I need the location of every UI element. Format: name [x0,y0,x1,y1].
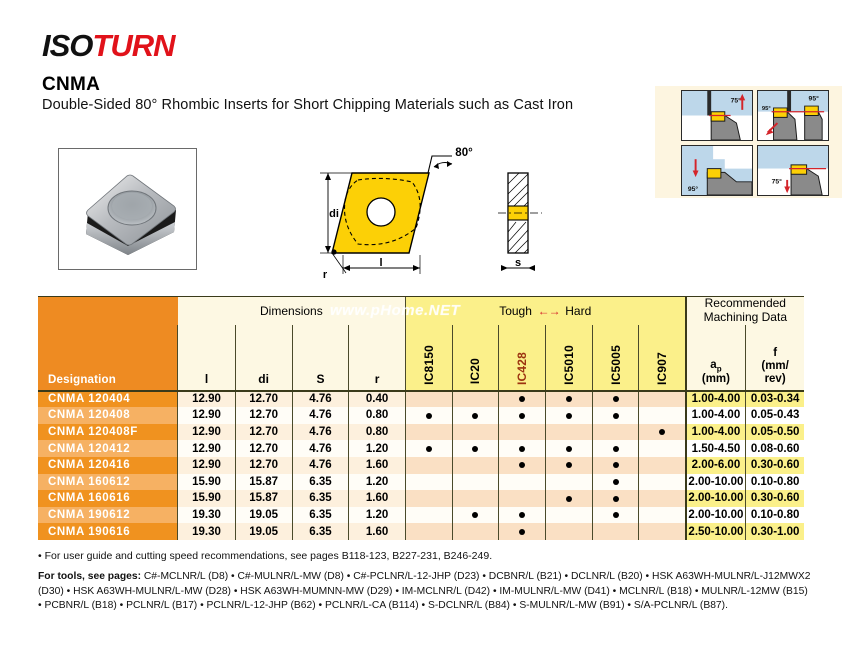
logo-iso-text: ISO [42,28,92,63]
cell-grade-ic5005 [592,490,639,507]
cell-grade-ic907 [639,440,686,457]
header-group-recommended: Recommended Machining Data [686,297,804,325]
header-col-l: l [178,325,235,391]
grade-available-dot-icon [566,413,572,419]
footer-tools-note: For tools, see pages: C#-MCLNR/L (D8) • … [38,570,814,614]
cell-grade-ic907 [639,391,686,408]
tool-holder-diagram-4: 75° [757,145,829,196]
isoturn-logo: ISOTURN [42,28,175,64]
cell-grade-ic907 [639,424,686,441]
table-row: CNMA 120408F12.9012.704.760.801.00-4.000… [38,424,804,441]
cell-dim-r: 1.60 [349,457,406,474]
grade-available-dot-icon [472,413,478,419]
table-group-header-row: Designation Dimensions Tough ←→ Hard Rec… [38,297,804,325]
cell-dim-di: 12.70 [235,457,292,474]
cell-grade-ic20 [452,474,499,491]
cell-grade-ic20 [452,507,499,524]
cell-grade-ic907 [639,474,686,491]
tool-holder-diagram-1: 75° [681,90,753,141]
grade-available-dot-icon [472,512,478,518]
cell-grade-ic5010 [545,523,592,540]
cell-dim-s: 4.76 [292,407,349,424]
cell-dim-s: 4.76 [292,440,349,457]
footer-tools-label: For tools, see pages: [38,571,141,582]
cell-dim-s: 4.76 [292,424,349,441]
cell-ap: 1.00-4.00 [686,407,746,424]
cell-grade-ic5005 [592,407,639,424]
cell-dim-l: 12.90 [178,457,235,474]
cell-grade-ic8150 [405,474,452,491]
header-col-f: f (mm/ rev) [746,325,804,391]
header-grade-ic5005: IC5005 [592,325,639,391]
cell-grade-ic5005 [592,507,639,524]
grade-available-dot-icon [613,396,619,402]
holder-4-svg: 75° [758,146,828,195]
cell-dim-r: 1.20 [349,507,406,524]
tough-label: Tough [499,304,532,318]
grade-label-ic428: IC428 [515,352,529,385]
cell-grade-ic5005 [592,391,639,408]
grade-available-dot-icon [426,446,432,452]
cell-grade-ic20 [452,457,499,474]
cell-designation: CNMA 160612 [38,474,178,491]
cell-f: 0.30-1.00 [746,523,804,540]
insert-technical-drawing: di l r 80° [312,140,574,286]
holder-2-angle-b: 95° [762,106,772,112]
holder-3-angle: 95° [688,185,699,193]
cell-grade-ic5010 [545,490,592,507]
table-row: CNMA 12040812.9012.704.760.801.00-4.000.… [38,407,804,424]
cell-dim-di: 15.87 [235,490,292,507]
cell-f: 0.05-0.43 [746,407,804,424]
cell-ap: 2.00-10.00 [686,507,746,524]
grade-available-dot-icon [613,462,619,468]
cell-grade-ic5005 [592,440,639,457]
cell-grade-ic907 [639,490,686,507]
grade-label-ic5005: IC5005 [609,345,623,385]
cell-grade-ic20 [452,490,499,507]
cell-f: 0.30-0.60 [746,490,804,507]
header-col-ap: ap (mm) [686,325,746,391]
cell-ap: 2.00-6.00 [686,457,746,474]
cell-grade-ic5010 [545,507,592,524]
cell-f: 0.10-0.80 [746,507,804,524]
table-row: CNMA 12041212.9012.704.761.201.50-4.500.… [38,440,804,457]
grade-available-dot-icon [566,462,572,468]
cell-dim-l: 15.90 [178,490,235,507]
grade-available-dot-icon [613,413,619,419]
table-head: Designation Dimensions Tough ←→ Hard Rec… [38,297,804,391]
cell-dim-s: 6.35 [292,474,349,491]
holder-2-angle-a: 95° [809,95,820,103]
header-grade-ic5010: IC5010 [545,325,592,391]
cell-f: 0.05-0.50 [746,424,804,441]
cell-grade-ic5010 [545,424,592,441]
cell-grade-ic907 [639,523,686,540]
cell-grade-ic5005 [592,523,639,540]
cell-grade-ic20 [452,523,499,540]
cell-grade-ic428 [499,490,546,507]
cell-grade-ic907 [639,407,686,424]
grade-available-dot-icon [519,529,525,535]
cell-dim-r: 0.80 [349,424,406,441]
cell-grade-ic8150 [405,424,452,441]
grade-available-dot-icon [519,446,525,452]
cell-grade-ic5005 [592,457,639,474]
cell-dim-di: 12.70 [235,407,292,424]
cell-dim-l: 12.90 [178,407,235,424]
specifications-table: Designation Dimensions Tough ←→ Hard Rec… [38,296,804,540]
dim-l-label: l [379,257,382,269]
cell-dim-r: 0.80 [349,407,406,424]
cell-grade-ic8150 [405,523,452,540]
f-unit-line1: (mm/ [746,360,804,373]
cell-grade-ic8150 [405,391,452,408]
header-col-r: r [349,325,406,391]
cell-dim-di: 15.87 [235,474,292,491]
cell-designation: CNMA 120404 [38,391,178,408]
cell-ap: 2.50-10.00 [686,523,746,540]
cell-dim-s: 6.35 [292,490,349,507]
header-col-di: di [235,325,292,391]
cell-grade-ic428 [499,457,546,474]
cell-ap: 1.50-4.50 [686,440,746,457]
table-row: CNMA 12040412.9012.704.760.401.00-4.000.… [38,391,804,408]
cell-grade-ic8150 [405,490,452,507]
table-row: CNMA 16061615.9015.876.351.602.00-10.000… [38,490,804,507]
tool-holder-grid: 75° 95° 95° [681,90,829,196]
cell-grade-ic5010 [545,474,592,491]
grade-available-dot-icon [519,462,525,468]
hard-label: Hard [565,304,591,318]
cell-dim-di: 12.70 [235,440,292,457]
page-subtitle: Double-Sided 80° Rhombic Inserts for Sho… [42,97,573,113]
recommended-line2: Machining Data [687,311,804,325]
dim-r-label: r [323,269,328,281]
cell-dim-s: 6.35 [292,523,349,540]
cell-grade-ic8150 [405,457,452,474]
footer-user-guide-note: • For user guide and cutting speed recom… [38,550,492,562]
cell-designation: CNMA 120416 [38,457,178,474]
cell-grade-ic428 [499,474,546,491]
cell-dim-l: 12.90 [178,440,235,457]
header-grade-ic20: IC20 [452,325,499,391]
cell-grade-ic5005 [592,424,639,441]
cell-grade-ic20 [452,391,499,408]
grade-available-dot-icon [519,512,525,518]
header-col-s: S [292,325,349,391]
cell-ap: 2.00-10.00 [686,490,746,507]
header-grade-ic907: IC907 [639,325,686,391]
cell-dim-l: 19.30 [178,507,235,524]
holder-3-svg: 95° [682,146,752,195]
cell-grade-ic428 [499,507,546,524]
grade-available-dot-icon [659,429,665,435]
cell-grade-ic8150 [405,407,452,424]
grade-available-dot-icon [566,396,572,402]
cell-designation: CNMA 190612 [38,507,178,524]
cell-dim-r: 1.20 [349,474,406,491]
table-body: CNMA 12040412.9012.704.760.401.00-4.000.… [38,391,804,540]
table-row: CNMA 12041612.9012.704.761.602.00-6.000.… [38,457,804,474]
cell-grade-ic907 [639,457,686,474]
cell-grade-ic5010 [545,440,592,457]
cell-dim-l: 15.90 [178,474,235,491]
angle-80-label: 80° [455,147,473,159]
cell-grade-ic428 [499,523,546,540]
cell-designation: CNMA 190616 [38,523,178,540]
cell-dim-l: 12.90 [178,424,235,441]
cell-grade-ic20 [452,424,499,441]
grade-label-ic20: IC20 [468,358,482,384]
tough-hard-arrow-icon: ←→ [535,304,562,318]
tool-holder-diagram-2: 95° 95° [757,90,829,141]
cell-dim-s: 4.76 [292,457,349,474]
cell-dim-r: 1.20 [349,440,406,457]
cell-f: 0.03-0.34 [746,391,804,408]
table-row: CNMA 19061219.3019.056.351.202.00-10.000… [38,507,804,524]
cell-dim-di: 12.70 [235,424,292,441]
logo-turn-text: TURN [92,28,174,63]
grade-label-ic8150: IC8150 [422,345,436,385]
grade-available-dot-icon [566,446,572,452]
header-group-tough-hard: Tough ←→ Hard [405,297,685,325]
cell-f: 0.08-0.60 [746,440,804,457]
recommended-line1: Recommended [687,297,804,311]
grade-available-dot-icon [519,413,525,419]
ap-symbol: ap [687,359,746,373]
cell-ap: 1.00-4.00 [686,391,746,408]
insert-photo-image [64,154,193,266]
cell-designation: CNMA 160616 [38,490,178,507]
grade-label-ic907: IC907 [655,352,669,385]
cell-dim-r: 0.40 [349,391,406,408]
cell-grade-ic428 [499,424,546,441]
cell-dim-s: 6.35 [292,507,349,524]
footer-tools-list: C#-MCLNR/L (D8) • C#-MULNR/L-MW (D8) • C… [38,571,811,611]
cell-grade-ic5010 [545,391,592,408]
cell-grade-ic5010 [545,457,592,474]
cell-grade-ic20 [452,407,499,424]
dim-s-label: s [515,257,521,269]
cell-grade-ic5005 [592,474,639,491]
grade-available-dot-icon [613,512,619,518]
cell-ap: 1.00-4.00 [686,424,746,441]
holder-2-svg: 95° 95° [758,91,828,140]
cell-grade-ic20 [452,440,499,457]
grade-available-dot-icon [426,413,432,419]
holder-4-angle: 75° [772,178,783,186]
grade-available-dot-icon [566,496,572,502]
table-row: CNMA 16061215.9015.876.351.202.00-10.000… [38,474,804,491]
specifications-table-wrapper: Designation Dimensions Tough ←→ Hard Rec… [38,296,804,540]
cell-dim-di: 19.05 [235,507,292,524]
cell-dim-di: 19.05 [235,523,292,540]
cell-f: 0.30-0.60 [746,457,804,474]
header-group-dimensions: Dimensions [178,297,405,325]
header-grade-ic8150: IC8150 [405,325,452,391]
cell-grade-ic5010 [545,407,592,424]
grade-available-dot-icon [613,479,619,485]
holder-1-svg: 75° [682,91,752,140]
tool-holder-diagram-3: 95° [681,145,753,196]
cell-dim-r: 1.60 [349,523,406,540]
header-grade-ic428: IC428 [499,325,546,391]
page-title: CNMA [42,74,100,96]
section-view: s [498,173,542,271]
cell-grade-ic428 [499,440,546,457]
cell-dim-s: 4.76 [292,391,349,408]
cell-grade-ic8150 [405,440,452,457]
tool-holder-illustrations-panel: 75° 95° 95° [655,86,842,198]
grade-available-dot-icon [519,396,525,402]
cell-designation: CNMA 120408 [38,407,178,424]
cell-dim-r: 1.60 [349,490,406,507]
cell-designation: CNMA 120408F [38,424,178,441]
grade-available-dot-icon [613,496,619,502]
cell-grade-ic428 [499,407,546,424]
grade-available-dot-icon [613,446,619,452]
cell-grade-ic428 [499,391,546,408]
insert-photo-frame [58,148,197,270]
ap-unit: (mm) [687,373,746,386]
cell-grade-ic8150 [405,507,452,524]
header-designation: Designation [38,297,178,391]
grade-available-dot-icon [472,446,478,452]
f-unit-line2: rev) [746,373,804,386]
cell-dim-l: 12.90 [178,391,235,408]
insert-photo [64,154,191,264]
dim-di-label: di [329,208,339,220]
f-symbol: f [746,347,804,360]
cell-f: 0.10-0.80 [746,474,804,491]
cell-dim-di: 12.70 [235,391,292,408]
cell-ap: 2.00-10.00 [686,474,746,491]
technical-drawing-svg: di l r 80° [312,140,574,286]
ap-subscript: p [717,364,722,373]
cell-grade-ic907 [639,507,686,524]
cell-designation: CNMA 120412 [38,440,178,457]
grade-label-ic5010: IC5010 [562,345,576,385]
table-row: CNMA 19061619.3019.056.351.602.50-10.000… [38,523,804,540]
cell-dim-l: 19.30 [178,523,235,540]
